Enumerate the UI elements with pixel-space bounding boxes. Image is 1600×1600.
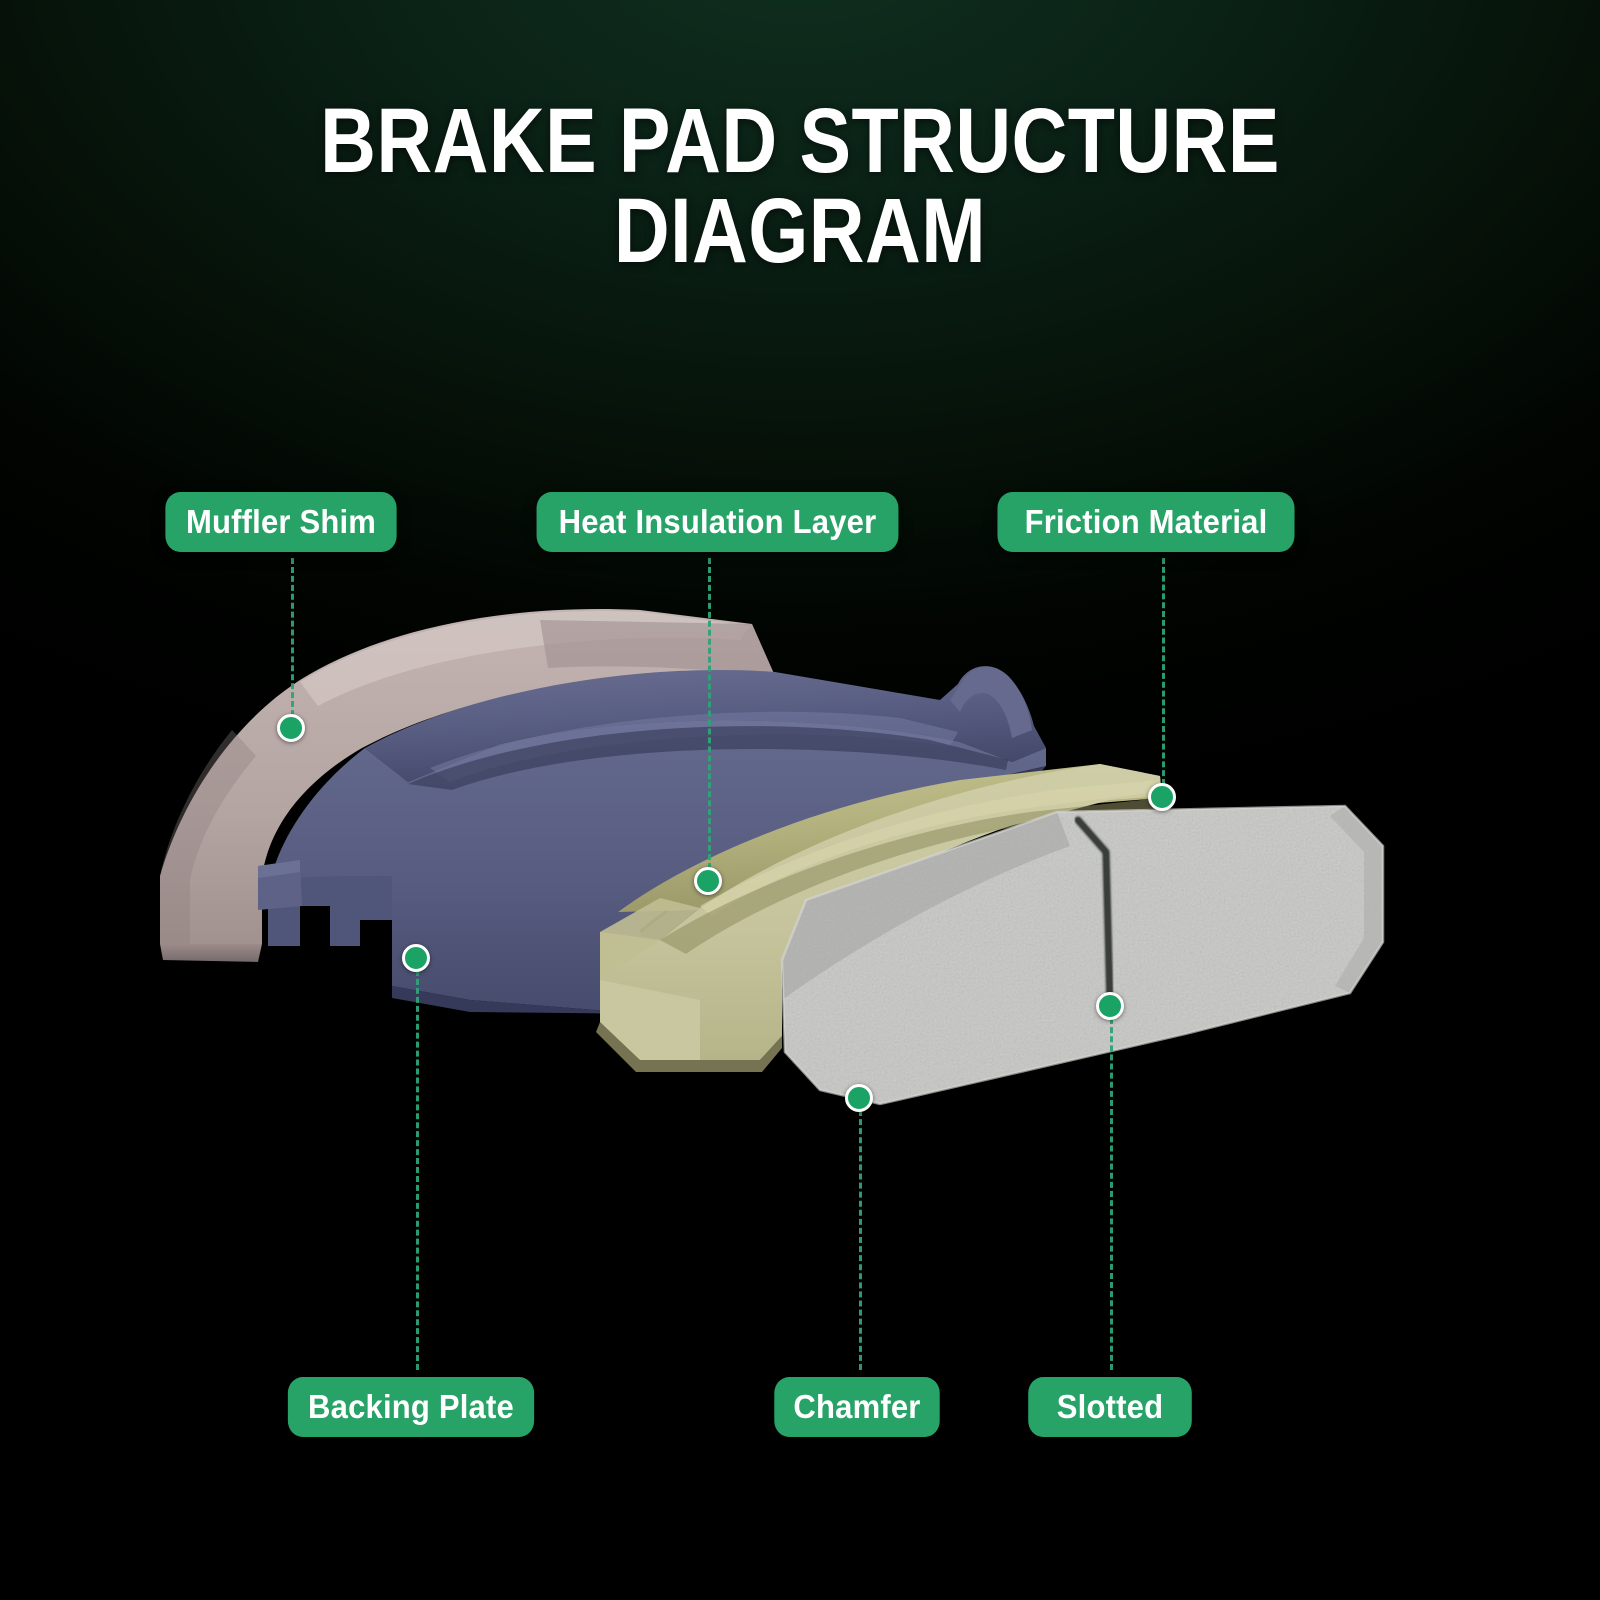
leader-line-muffler-shim [291,558,294,716]
label-backing-plate[interactable]: Backing Plate [288,1377,534,1437]
callout-dot-backing-plate[interactable] [402,944,430,972]
leader-line-heat-insulation-layer [708,558,711,869]
callout-dot-heat-insulation-layer[interactable] [694,867,722,895]
diagram-canvas: BRAKE PAD STRUCTURE DIAGRAM [0,0,1600,1600]
callout-dot-slotted[interactable] [1096,992,1124,1020]
label-slotted[interactable]: Slotted [1028,1377,1192,1437]
label-muffler-shim[interactable]: Muffler Shim [165,492,396,552]
leader-line-chamfer [859,1110,862,1370]
label-chamfer[interactable]: Chamfer [774,1377,939,1437]
leader-line-friction-material [1162,558,1165,785]
callout-dot-muffler-shim[interactable] [277,714,305,742]
label-friction-material[interactable]: Friction Material [997,492,1294,552]
callout-dot-chamfer[interactable] [845,1084,873,1112]
brake-pad-assembly [0,0,1600,1600]
callout-dot-friction-material[interactable] [1148,783,1176,811]
leader-line-backing-plate [416,970,419,1370]
label-heat-insulation-layer[interactable]: Heat Insulation Layer [537,492,899,552]
leader-line-slotted [1110,1018,1113,1370]
